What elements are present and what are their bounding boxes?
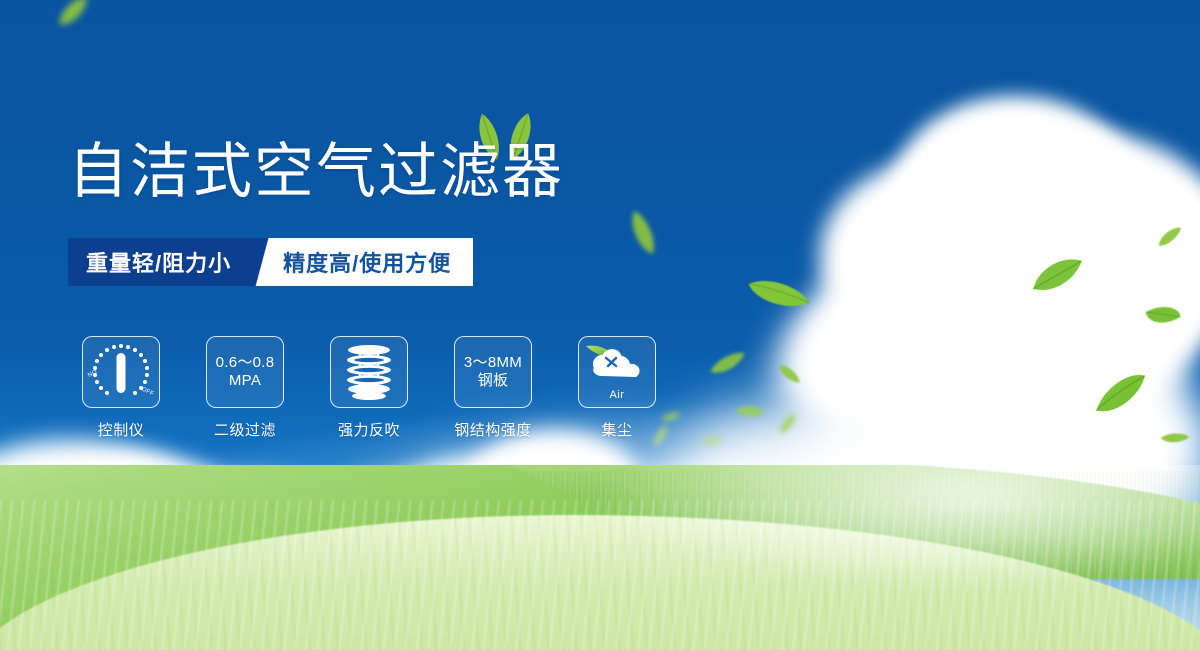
air-label: Air [586, 389, 648, 401]
banner-content: 自洁式空气过滤器 重量轻/阻力小 精度高/使用方便 [0, 0, 1200, 650]
dial-needle [117, 353, 126, 393]
dial-label-off: OFF [140, 386, 154, 397]
feature-item-two-stage-filter[interactable]: 0.6〜0.8 MPA 二级过滤 [196, 336, 294, 440]
feature-item-dust-collection[interactable]: Air 集尘 [568, 336, 666, 440]
subtitle-right-text: 精度高/使用方便 [277, 238, 473, 286]
filter-cartridge-icon [342, 343, 396, 401]
pressure-text-icon: 0.6〜0.8 MPA [216, 354, 275, 391]
control-dial-icon: NO OFF [88, 341, 154, 403]
feature-list: NO OFF 控制仪 0.6〜0.8 MPA 二级过滤 [72, 336, 666, 440]
feature-label: 二级过滤 [214, 419, 276, 440]
cloud-air-icon: Air [586, 344, 648, 400]
subtitle-bar: 重量轻/阻力小 精度高/使用方便 [68, 238, 473, 286]
feature-label: 钢结构强度 [454, 419, 532, 440]
feature-label: 集尘 [601, 419, 632, 440]
subtitle-divider [251, 238, 277, 286]
dial-label-no: NO [87, 369, 98, 379]
page-title: 自洁式空气过滤器 [68, 142, 564, 202]
feature-icon-box: 0.6〜0.8 MPA [206, 336, 284, 408]
feature-icon-box: NO OFF [82, 336, 160, 408]
feature-icon-box: 3〜8MM 钢板 [454, 336, 532, 408]
steel-plate-text-icon: 3〜8MM 钢板 [464, 354, 522, 391]
feature-icon-box: Air [578, 336, 656, 408]
feature-label: 强力反吹 [338, 419, 400, 440]
feature-label: 控制仪 [98, 419, 145, 440]
subtitle-left-text: 重量轻/阻力小 [68, 238, 251, 286]
feature-icon-box [330, 336, 408, 408]
feature-item-steel-strength[interactable]: 3〜8MM 钢板 钢结构强度 [444, 336, 542, 440]
product-hero-banner: 自洁式空气过滤器 重量轻/阻力小 精度高/使用方便 [0, 0, 1200, 650]
feature-item-strong-blowback[interactable]: 强力反吹 [320, 336, 418, 440]
feature-item-control-dial[interactable]: NO OFF 控制仪 [72, 336, 170, 440]
